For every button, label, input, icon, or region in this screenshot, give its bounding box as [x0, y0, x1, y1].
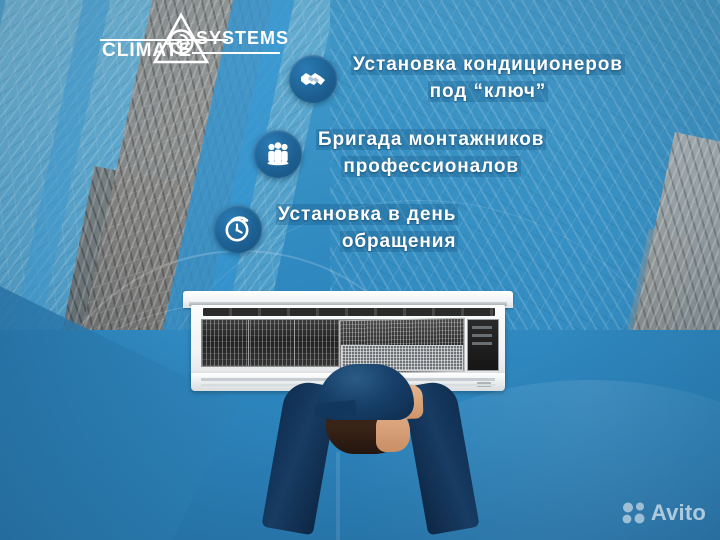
feature-line: Установка в день: [276, 204, 458, 225]
feature-text-professional-crew: Бригада монтажников профессионалов: [316, 127, 546, 181]
feature-item-same-day-installation: Установка в день обращения: [214, 202, 458, 256]
feature-text-same-day-installation: Установка в день обращения: [276, 202, 458, 256]
three-people-icon: [254, 130, 302, 178]
feature-line: Бригада монтажников: [316, 129, 546, 150]
avito-wordmark: Avito: [651, 502, 706, 524]
advertisement-banner: CLIMATE SYSTEMS Установка кондиционеров …: [0, 0, 720, 540]
ac-intake-slots: [203, 308, 495, 316]
installer-technician: [258, 352, 473, 540]
technician-cap: [318, 364, 414, 420]
feature-line: под “ключ”: [428, 81, 549, 102]
feature-line: Установка кондиционеров: [351, 54, 625, 75]
feature-line: профессионалов: [341, 156, 521, 177]
feature-line: обращения: [340, 231, 458, 252]
technician-uniform: [288, 434, 444, 540]
avito-dots-logo: [622, 502, 646, 524]
feature-item-professional-crew: Бригада монтажников профессионалов: [254, 127, 546, 181]
feature-text-turnkey-installation: Установка кондиционеров под “ключ”: [351, 52, 625, 106]
company-logo: CLIMATE SYSTEMS: [100, 12, 280, 70]
feature-item-turnkey-installation: Установка кондиционеров под “ключ”: [289, 52, 625, 106]
technician-uniform-fold: [336, 452, 340, 540]
avito-watermark: Avito: [622, 500, 706, 526]
handshake-icon: [289, 55, 337, 103]
clock-arrow-icon: [214, 205, 262, 253]
ac-indicator-panel: [477, 382, 491, 387]
triangle-swirl-emblem: [150, 12, 212, 70]
